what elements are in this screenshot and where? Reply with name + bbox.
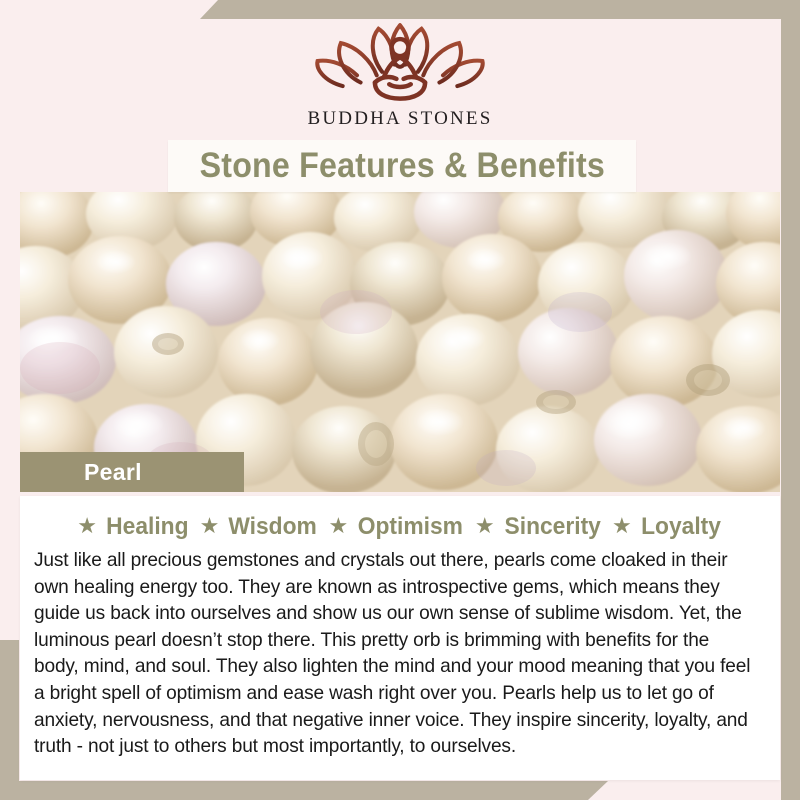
frame-left-strip: [0, 640, 19, 800]
star-icon: ★: [475, 515, 495, 537]
benefit-item: ★ Wisdom: [200, 513, 320, 541]
page-title: Stone Features & Benefits: [199, 146, 604, 186]
pearls-photo: [20, 192, 780, 492]
content-panel: ★ Healing ★ Wisdom ★ Optimism ★ Sincerit…: [20, 496, 780, 780]
star-icon: ★: [612, 515, 632, 537]
brand-header: BUDDHA STONES: [0, 18, 800, 148]
lotus-meditation-icon: [310, 18, 490, 104]
star-icon: ★: [77, 515, 97, 537]
benefit-label: Optimism: [358, 513, 463, 541]
benefits-list: ★ Healing ★ Wisdom ★ Optimism ★ Sincerit…: [20, 496, 780, 541]
star-icon: ★: [200, 515, 220, 537]
benefit-item: ★ Loyalty: [612, 513, 723, 541]
benefit-label: Healing: [106, 513, 188, 541]
benefit-item: ★ Sincerity: [475, 513, 603, 541]
frame-top-band: [200, 0, 800, 19]
benefit-item: ★ Healing: [77, 513, 190, 541]
stone-name: Pearl: [84, 459, 142, 486]
title-banner: Stone Features & Benefits: [168, 140, 636, 192]
star-icon: ★: [328, 515, 348, 537]
benefit-item: ★ Optimism: [328, 513, 465, 541]
frame-bottom-band: [0, 781, 608, 800]
benefit-label: Sincerity: [504, 513, 600, 541]
stone-description: Just like all precious gemstones and cry…: [34, 547, 755, 760]
benefit-label: Loyalty: [641, 513, 721, 541]
benefit-label: Wisdom: [229, 513, 317, 541]
brand-name: BUDDHA STONES: [307, 108, 492, 130]
stone-name-bar: Pearl: [20, 452, 244, 492]
